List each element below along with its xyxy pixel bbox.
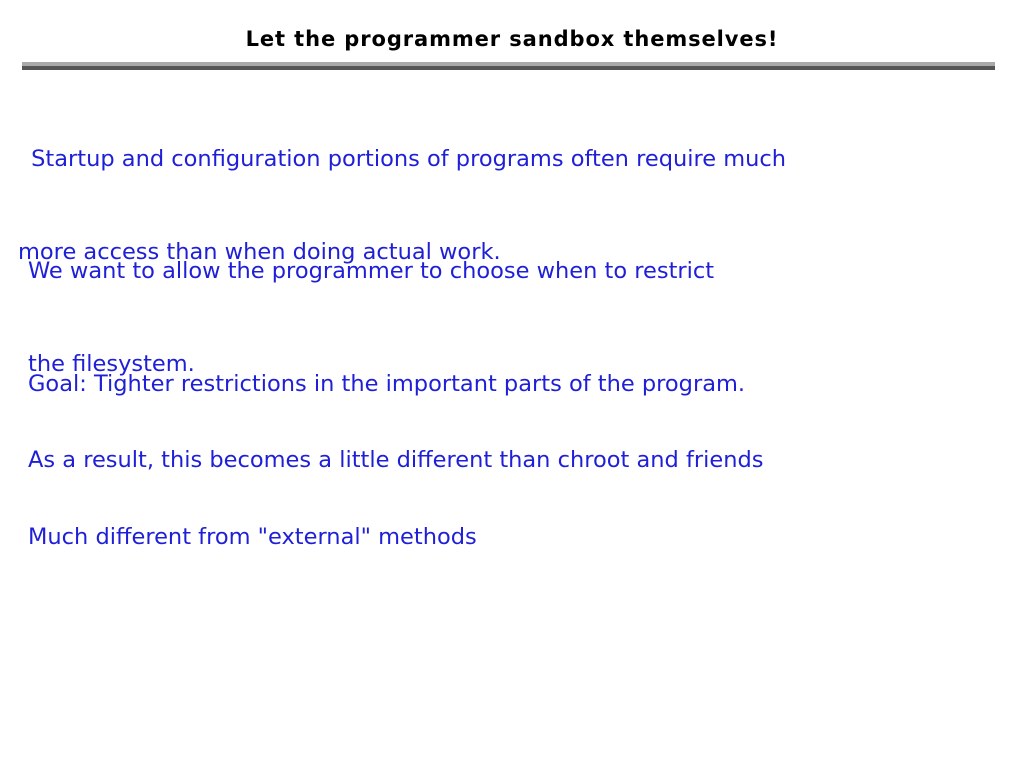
paragraph-programmer-choice-line-1: We want to allow the programmer to choos… [28,256,714,287]
paragraph-external-methods: Much different from "external" methods [28,460,477,615]
paragraph-external-methods-line-1: Much different from "external" methods [28,522,477,553]
paragraph-startup-access-line-1: Startup and configuration portions of pr… [18,144,786,175]
divider-shadow-band [22,66,995,70]
title-divider [22,62,995,70]
slide-title: Let the programmer sandbox themselves! [0,27,1024,51]
